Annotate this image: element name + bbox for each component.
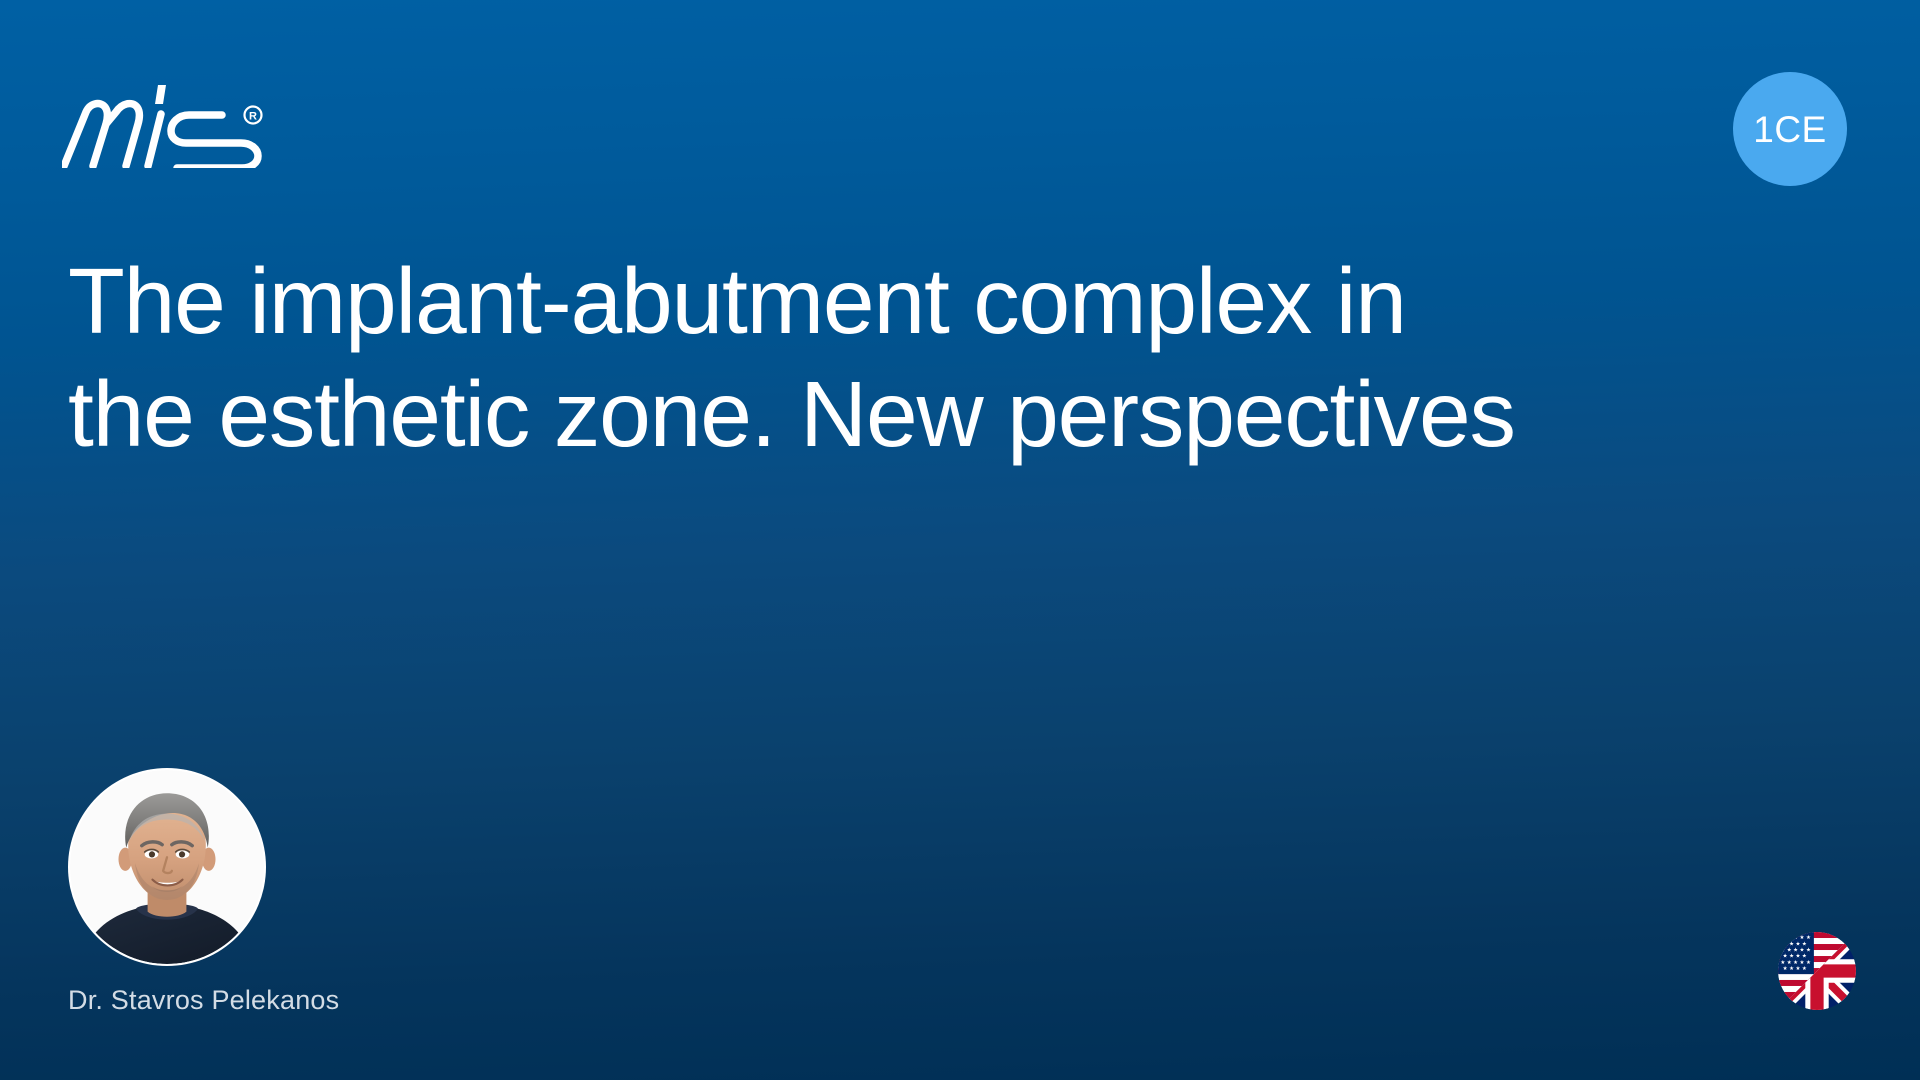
ce-credit-badge[interactable]: 1CE (1733, 72, 1847, 186)
webinar-title-slide: R 1CE The implant-abutment complex in th… (0, 0, 1920, 1080)
slide-title: The implant-abutment complex in the esth… (68, 245, 1858, 472)
svg-text:★ ★ ★ ★ ★: ★ ★ ★ ★ ★ (1780, 948, 1811, 954)
registered-trademark-icon: R (245, 107, 262, 124)
speaker-block: Dr. Stavros Pelekanos (68, 768, 628, 1016)
mis-logo[interactable]: R (62, 82, 306, 168)
ce-credit-label: 1CE (1753, 111, 1826, 148)
svg-text:★ ★ ★ ★: ★ ★ ★ ★ (1783, 941, 1807, 947)
svg-text:★ ★ ★ ★: ★ ★ ★ ★ (1783, 954, 1807, 960)
speaker-avatar (68, 768, 266, 966)
speaker-name: Dr. Stavros Pelekanos (68, 985, 628, 1016)
svg-text:R: R (249, 111, 257, 123)
svg-text:★ ★ ★ ★: ★ ★ ★ ★ (1783, 966, 1807, 972)
svg-text:★ ★ ★ ★ ★: ★ ★ ★ ★ ★ (1780, 935, 1811, 941)
svg-text:★ ★ ★ ★ ★: ★ ★ ★ ★ ★ (1780, 960, 1811, 966)
us-uk-flag-icon[interactable]: ★ ★ ★ ★ ★ ★ ★ ★ ★ ★ ★ ★ ★ ★ ★ ★ ★ ★ ★ ★ … (1778, 932, 1856, 1010)
